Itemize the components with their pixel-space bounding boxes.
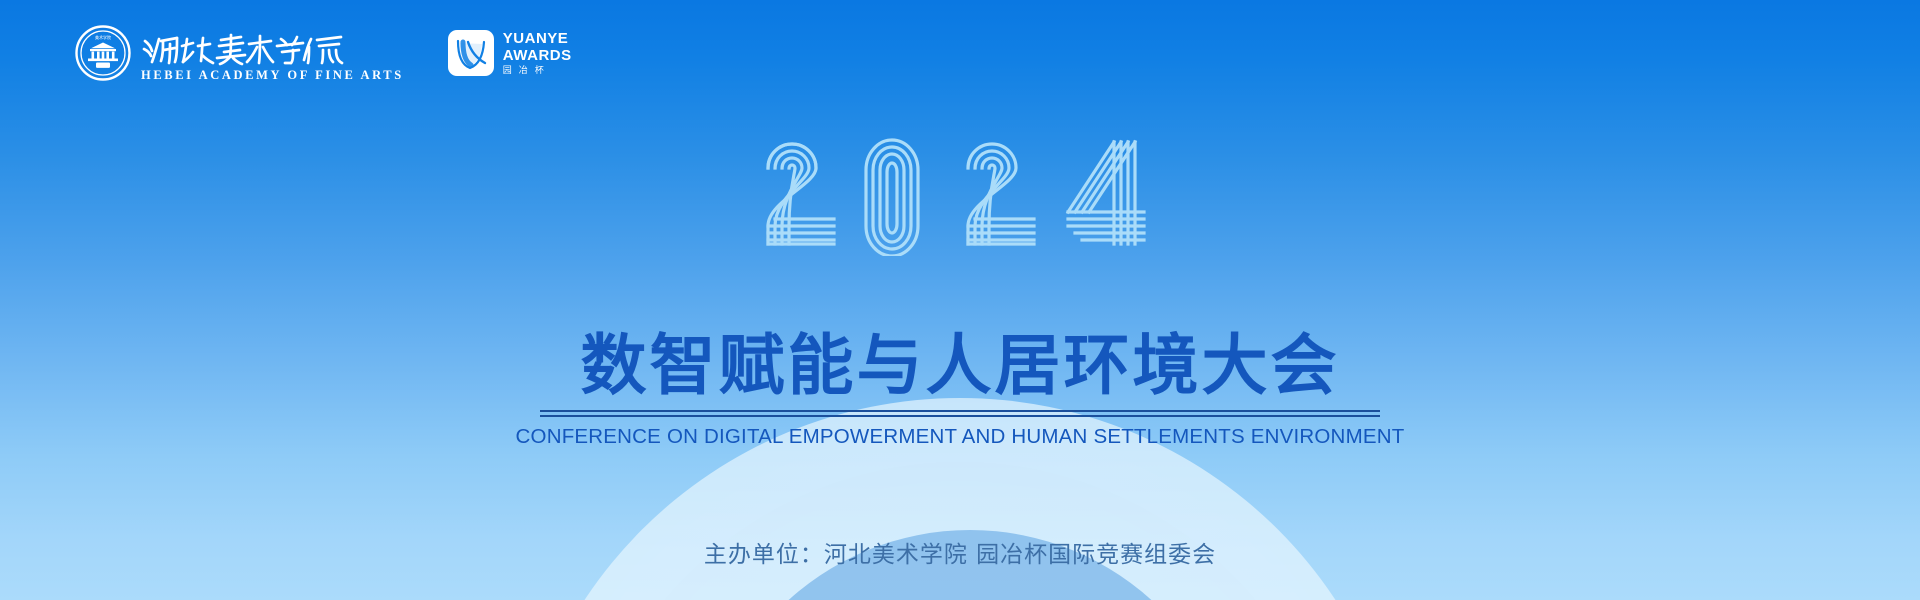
title-block: 数智赋能与人居环境大会 CONFERENCE ON DIGITAL EMPOWE…: [0, 330, 1920, 449]
conference-banner: 美术学院: [0, 0, 1920, 600]
logo-yuanye-awards[interactable]: YUANYE AWARDS 园冶杯: [448, 30, 572, 76]
yuanye-awards-line1: YUANYE: [503, 31, 572, 46]
organizer-line: 主办单位：河北美术学院 园冶杯国际竞赛组委会: [0, 535, 1920, 569]
yuanye-awards-line2: AWARDS: [503, 48, 572, 63]
yuanye-awards-wordmark: YUANYE AWARDS 园冶杯: [503, 31, 572, 75]
svg-text:美术学院: 美术学院: [95, 34, 111, 40]
yuanye-awards-mark-icon: [448, 30, 494, 76]
hebei-academy-name-cn-icon: [141, 32, 353, 66]
logo-hebei-academy[interactable]: 美术学院: [75, 25, 404, 81]
title-divider: [540, 410, 1380, 417]
page-subtitle: CONFERENCE ON DIGITAL EMPOWERMENT AND HU…: [516, 425, 1405, 449]
hebei-academy-wordmark: HEBEI ACADEMY OF FINE ARTS: [141, 32, 404, 82]
title-divider-line-2: [540, 415, 1380, 417]
title-divider-line-1: [540, 410, 1380, 412]
year-2024-graphic: [760, 128, 1160, 256]
page-title: 数智赋能与人居环境大会: [581, 330, 1340, 401]
logo-row: 美术学院: [75, 25, 572, 81]
hebei-academy-name-en: HEBEI ACADEMY OF FINE ARTS: [141, 69, 404, 82]
yuanye-awards-name-cn: 园冶杯: [503, 66, 572, 75]
hebei-academy-crest-icon: 美术学院: [75, 25, 131, 81]
year-graphic-wrapper: [0, 128, 1920, 256]
